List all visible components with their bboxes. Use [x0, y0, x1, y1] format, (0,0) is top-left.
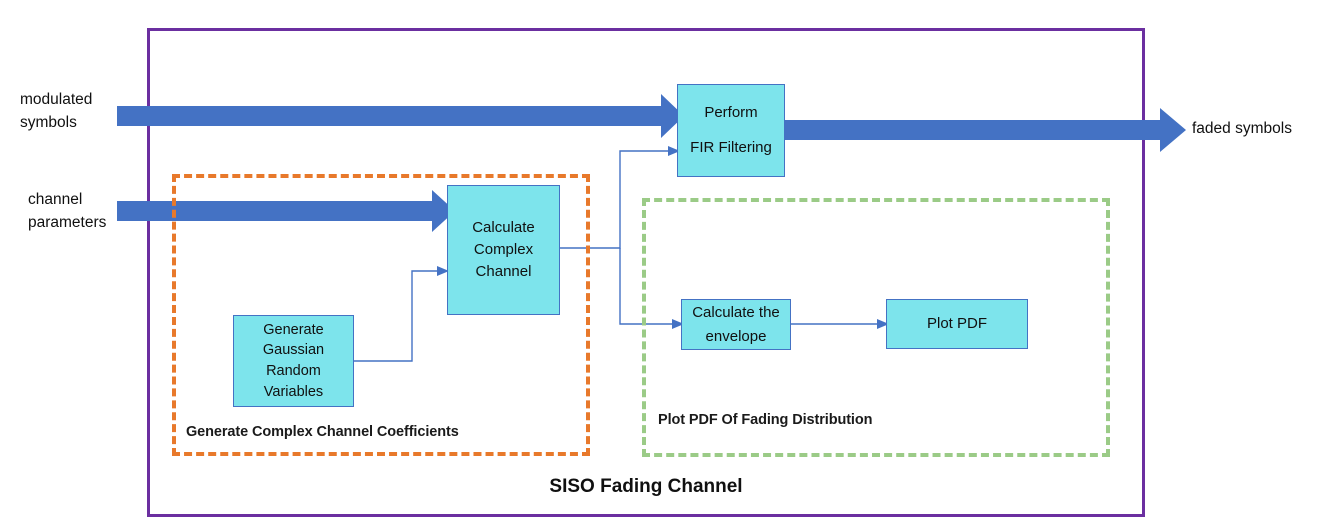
- process-box-fir-label-line1: Perform: [686, 96, 776, 131]
- output-label-faded-symbols: faded symbols: [1192, 117, 1292, 140]
- process-box-fir-label-line2: FIR Filtering: [686, 131, 776, 166]
- process-box-gaussian-label-line4: Variables: [259, 382, 328, 403]
- page-title: SISO Fading Channel: [147, 476, 1145, 498]
- process-box-envelope-label-line2: envelope: [688, 325, 784, 348]
- diagram-canvas: Generate Complex Channel Coefficients Pl…: [0, 0, 1317, 528]
- input-label-channel-parameters-line2: parameters: [28, 211, 106, 234]
- process-box-calculate-complex-channel[interactable]: Calculate Complex Channel: [447, 185, 560, 315]
- process-box-gaussian-label-line3: Random: [259, 361, 328, 382]
- group-label-generate-complex-channel-coefficients: Generate Complex Channel Coefficients: [186, 424, 459, 440]
- process-box-plot-pdf-label: Plot PDF: [923, 312, 991, 335]
- process-box-gaussian-label-line2: Gaussian: [259, 340, 328, 361]
- process-box-calc-channel-label-line3: Channel: [468, 261, 539, 283]
- input-label-modulated-symbols-line2: symbols: [20, 111, 92, 134]
- process-box-calc-channel-label-line2: Complex: [468, 239, 539, 261]
- input-label-channel-parameters-line1: channel: [28, 188, 106, 211]
- process-box-plot-pdf[interactable]: Plot PDF: [886, 299, 1028, 349]
- process-box-envelope-label-line1: Calculate the: [688, 301, 784, 324]
- input-label-modulated-symbols: modulated symbols: [20, 88, 92, 135]
- process-box-calculate-the-envelope[interactable]: Calculate the envelope: [681, 299, 791, 350]
- group-label-plot-pdf-of-fading-distribution: Plot PDF Of Fading Distribution: [658, 412, 872, 428]
- process-box-calc-channel-label-line1: Calculate: [468, 217, 539, 239]
- process-box-perform-fir-filtering[interactable]: Perform FIR Filtering: [677, 84, 785, 177]
- process-box-gaussian-label-line1: Generate: [259, 320, 328, 341]
- input-label-channel-parameters: channel parameters: [28, 188, 106, 235]
- input-label-modulated-symbols-line1: modulated: [20, 88, 92, 111]
- process-box-generate-gaussian-random-variables[interactable]: Generate Gaussian Random Variables: [233, 315, 354, 407]
